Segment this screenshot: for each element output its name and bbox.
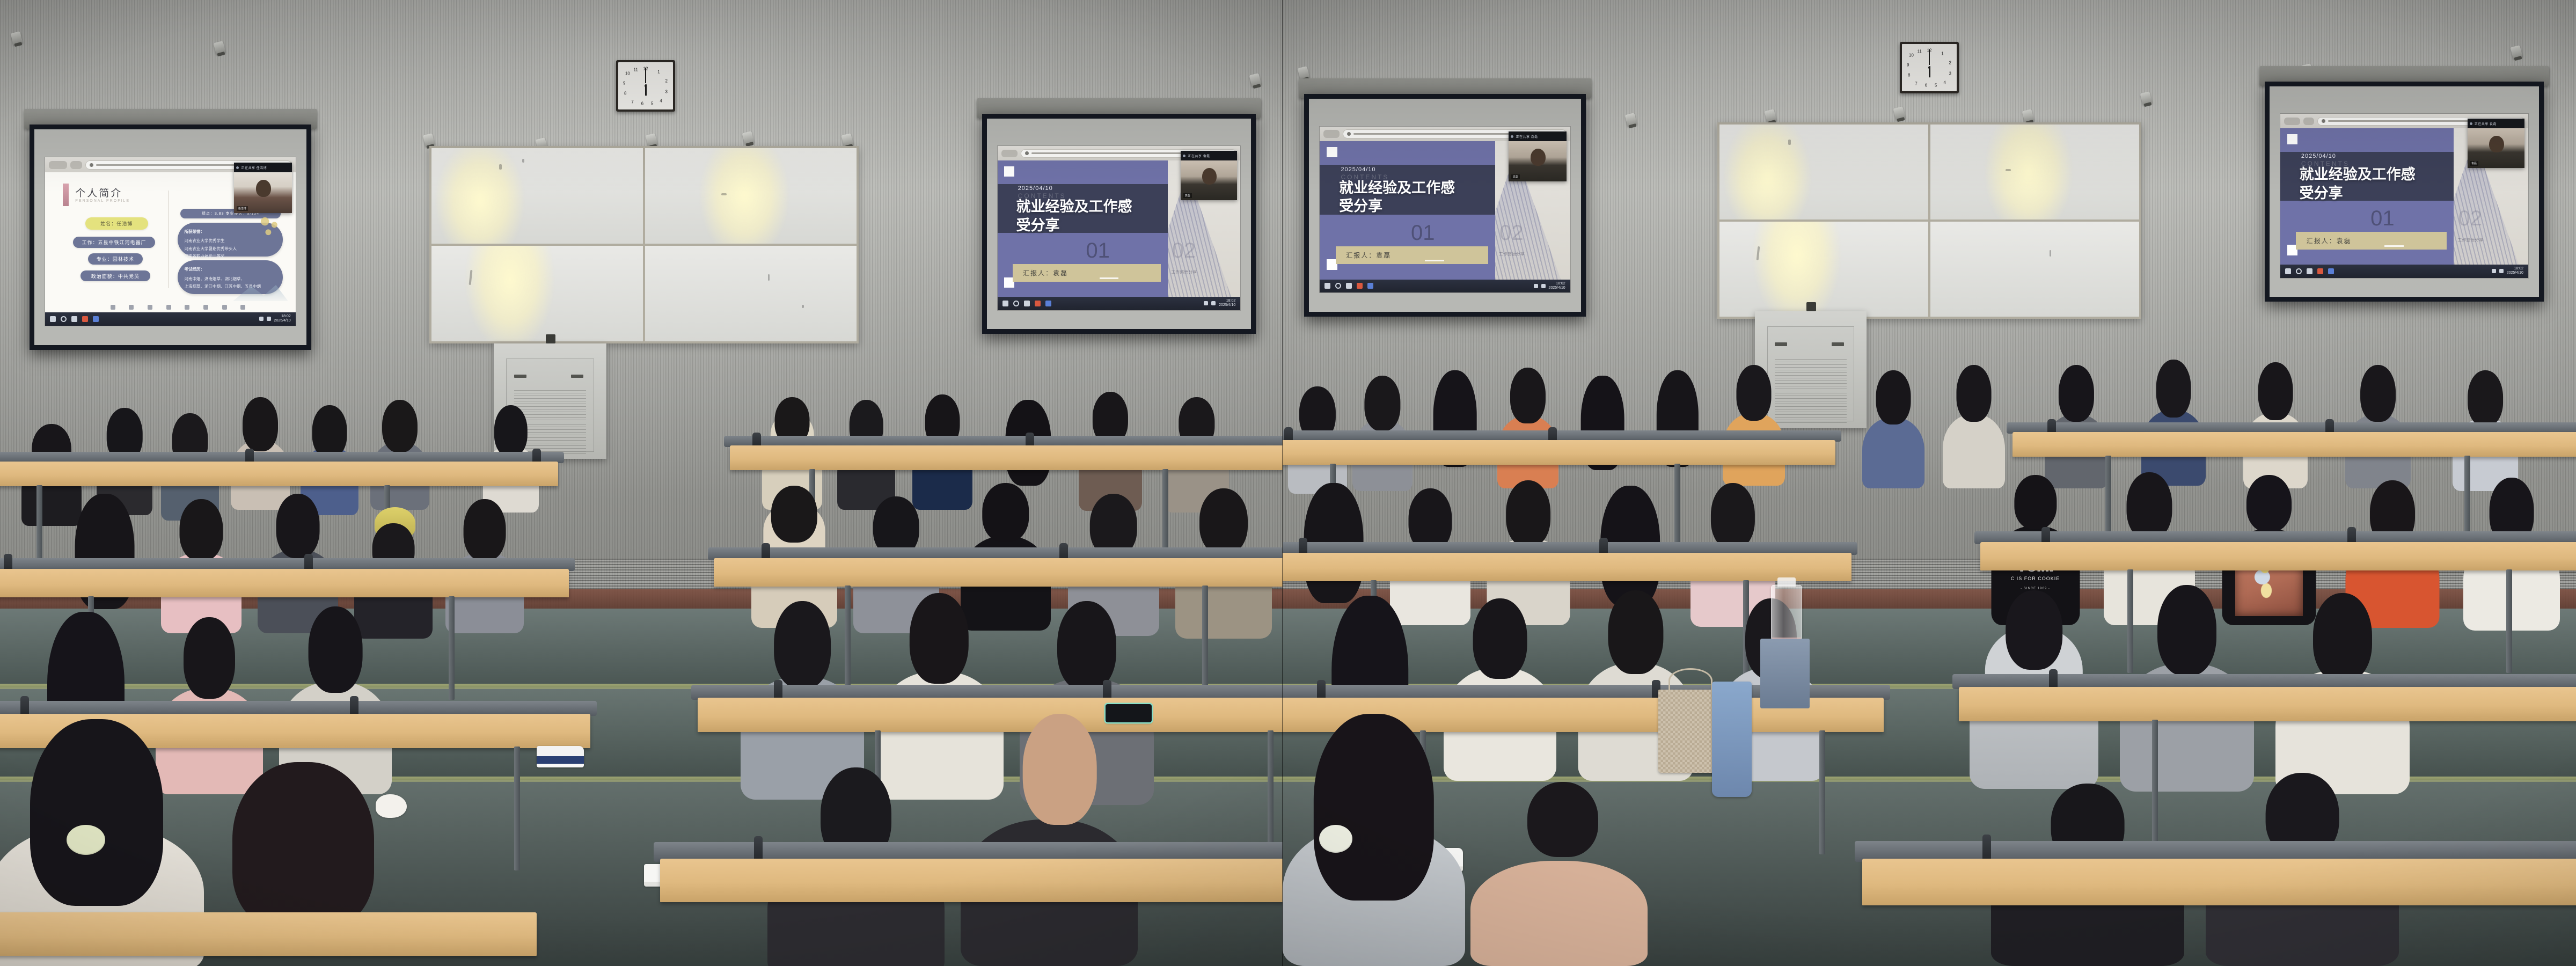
head	[1510, 368, 1546, 423]
taskview-icon[interactable]	[1346, 283, 1352, 289]
record-icon[interactable]	[203, 305, 208, 310]
whiteboard-cell	[645, 148, 857, 244]
head	[2157, 585, 2216, 676]
video-call-pip-male[interactable]: 正在共享 袁磊 袁磊	[2468, 119, 2524, 168]
whiteboard-right-panel	[1717, 122, 2141, 319]
head	[2059, 365, 2094, 422]
presenter-name: 汇报人：袁磊	[1346, 251, 1391, 260]
head	[276, 494, 320, 558]
search-icon[interactable]	[1335, 283, 1341, 289]
slide-accent-bar	[63, 184, 69, 206]
honor-item: 河南农业大学优秀学生	[184, 238, 224, 243]
pill-name: 姓名：任浩博	[85, 217, 148, 230]
screen-bezel: 2025/04/10 CONTENTS 就业经验及工作感 受分享 01 就业经验…	[1304, 94, 1586, 317]
clock-numeral: 8	[624, 91, 626, 96]
screen-surface: 2025/04/10 CONTENTS 就业经验及工作感 受分享 01 就业经验…	[1309, 99, 1581, 312]
slide-title-text: 就业经验及工作感 受分享	[1016, 197, 1152, 235]
slide-main-block: 2025/04/10 CONTENTS 就业经验及工作感 受分享 01 就业经验…	[998, 160, 1168, 297]
volume-icon[interactable]	[267, 317, 271, 321]
desk-surface	[730, 445, 1283, 470]
head	[1473, 598, 1527, 679]
slide-main-block: 2025/04/10 CONTENTS 就业经验及工作感 受分享 01 就业经验…	[1320, 141, 1495, 279]
whiteboard-cell	[1930, 125, 2139, 219]
clock-numeral: 2	[665, 79, 668, 84]
pip-participant-name: 袁磊	[1183, 193, 1192, 198]
taskbar-time: 18:02	[2514, 267, 2523, 270]
desk-surface	[1862, 859, 2576, 905]
foreground-student-right	[1283, 714, 1465, 966]
browser-tab[interactable]	[1001, 150, 1018, 157]
video-call-pip-female[interactable]: 正在共享 任浩博 任浩博	[234, 163, 291, 213]
slide-title-text: 就业经验及工作感 受分享	[1339, 179, 1479, 216]
site-icon	[2322, 119, 2325, 123]
os-taskbar[interactable]: 18:02 2025/4/10	[45, 312, 295, 326]
pill-major: 专业：园林技术	[88, 253, 143, 265]
clock-face: 12 1 2 3 4 5 6 7 8 9 10 11	[1902, 44, 1957, 91]
slide-main-block: 2025/04/10 CONTENTS 就业经验及工作感 受分享 01 就业经验…	[2280, 128, 2454, 265]
whiteboard-cell	[1930, 222, 2139, 317]
head	[1737, 365, 1772, 421]
desk-row	[2012, 432, 2576, 475]
taskbar-tray[interactable]: 18:02 2025/4/10	[1534, 282, 1565, 290]
share-indicator-icon	[2470, 122, 2472, 125]
participant-silhouette	[2489, 136, 2504, 153]
desk-row	[730, 445, 1283, 488]
head	[1608, 590, 1663, 674]
taskbar-clock[interactable]: 18:02 2025/4/10	[2507, 267, 2523, 275]
projector-screen-right: 2025/04/10 CONTENTS 就业经验及工作感 受分享 01 就业经验…	[2265, 82, 2544, 302]
desk-surface	[714, 558, 1283, 587]
clock-minute-hand	[645, 68, 646, 83]
cabinet-louvers	[1775, 393, 1846, 423]
whiteboard-cell	[645, 246, 857, 341]
search-icon[interactable]	[61, 316, 67, 322]
pip-video-feed: 袁磊	[2468, 128, 2524, 167]
taskview-icon[interactable]	[2307, 268, 2312, 274]
clock-numeral: 11	[633, 68, 638, 72]
long-hair	[30, 719, 163, 906]
pip-header: 正在共享 袁磊	[2468, 119, 2524, 128]
os-taskbar[interactable]: 18:02 2025/4/10	[2280, 265, 2528, 277]
taskbar-tray[interactable]: 18:02 2025/4/10	[2492, 267, 2523, 275]
shared-desktop-window: 2025/04/10 CONTENTS 就业经验及工作感 受分享 01 就业经验…	[998, 146, 1241, 310]
taskbar-clock[interactable]: 18:02 2025/4/10	[1219, 299, 1235, 308]
browser-tab[interactable]	[49, 161, 67, 169]
search-icon[interactable]	[1013, 301, 1019, 306]
microphone-icon	[1806, 302, 1817, 311]
slide-date: 2025/04/10	[1018, 185, 1053, 192]
clock-numeral: 5	[1935, 83, 1937, 88]
light-glow	[700, 148, 788, 244]
desk-surface	[1959, 687, 2576, 721]
clock-numeral: 7	[1915, 81, 1917, 86]
taskbar-date: 2025/4/10	[274, 319, 291, 323]
powerpoint-icon[interactable]	[1357, 283, 1363, 289]
taskbar-date: 2025/4/10	[1219, 303, 1235, 307]
section-number-02: 02	[2458, 208, 2483, 229]
site-icon	[90, 163, 93, 167]
head	[1527, 782, 1598, 857]
head	[494, 405, 528, 457]
marker-smudge	[522, 159, 524, 163]
screen-surface: 2025/04/10 CONTENTS 就业经验及工作感 受分享 01 就业经验…	[2270, 86, 2539, 297]
slide-date: 2025/04/10	[1341, 166, 1375, 173]
head	[910, 593, 969, 684]
meeting-app-icon[interactable]	[2328, 268, 2334, 274]
slide-title-line2: 受分享	[1016, 217, 1060, 233]
clock-numeral: 1	[1941, 51, 1943, 56]
taskbar-clock[interactable]: 18:02 2025/4/10	[274, 314, 291, 323]
clock-numeral: 9	[623, 80, 625, 85]
head	[2258, 362, 2293, 420]
clock-numeral: 9	[1907, 62, 1909, 67]
head	[2468, 370, 2503, 426]
head	[1199, 488, 1248, 554]
marker-smudge	[768, 274, 770, 281]
meeting-app-icon[interactable]	[1045, 301, 1051, 306]
audience-member	[1943, 365, 2005, 488]
desk-row	[1283, 553, 1851, 602]
head	[1057, 601, 1116, 691]
pip-video-feed: 任浩博	[234, 172, 291, 213]
pip-header-text: 正在共享 任浩博	[241, 165, 267, 170]
section-number-01: 01	[1411, 222, 1435, 244]
wall-clock: 12 1 2 3 4 5 6 7 8 9 10 11	[1900, 42, 1959, 93]
sneaker	[537, 746, 584, 767]
head	[2246, 475, 2292, 532]
browser-tab[interactable]	[70, 161, 82, 169]
section-caption-02: 工作感悟分享	[1171, 269, 1197, 275]
head	[1711, 483, 1755, 549]
powerpoint-icon[interactable]	[1035, 301, 1041, 306]
search-icon[interactable]	[2296, 268, 2302, 274]
clock-minute-hand	[1929, 49, 1930, 65]
light-glow	[436, 148, 524, 244]
pill-job: 工作：五县中铁江河电器厂	[73, 237, 156, 248]
head	[2156, 360, 2191, 418]
meeting-app-icon[interactable]	[93, 316, 99, 322]
slide-corner-chip	[2287, 134, 2297, 144]
whiteboard-column	[1930, 125, 2139, 317]
pip-header-text: 正在共享 袁磊	[1516, 134, 1538, 139]
section-caption-02: 工作感悟分享	[2457, 237, 2483, 243]
desk-leg	[1202, 586, 1208, 689]
clock-numeral: 3	[665, 89, 668, 94]
torso	[1470, 861, 1648, 966]
light-glow	[1985, 125, 2072, 219]
desk-leg	[449, 596, 455, 700]
volume-icon[interactable]	[1541, 284, 1546, 288]
slide-date: 2025/04/10	[2301, 153, 2336, 159]
video-call-pip-male[interactable]: 正在共享 袁磊 袁磊	[1509, 131, 1566, 181]
desk-surface	[660, 859, 1283, 902]
cabinet-vent-slot	[514, 375, 526, 378]
whiteboard-left-panel	[429, 146, 859, 343]
pip-header-text: 正在共享 袁磊	[1188, 153, 1210, 158]
desk-leg	[1268, 730, 1274, 854]
site-icon	[1025, 151, 1029, 155]
section-number-01: 01	[2370, 208, 2395, 229]
desk-surface	[0, 569, 569, 597]
slide-title-line2: 受分享	[2300, 185, 2343, 201]
head	[774, 601, 831, 689]
hair-scrunchie	[1319, 825, 1352, 853]
head	[1957, 365, 1992, 422]
head	[2006, 590, 2062, 670]
whiteboard-cell	[1719, 222, 1928, 317]
slide-title-line2: 受分享	[1339, 198, 1382, 214]
desk-leg	[514, 747, 520, 870]
section-number-01: 01	[1086, 240, 1110, 261]
desk-row	[1862, 859, 2576, 939]
clock-face: 12 1 2 3 4 5 6 7 8 9 10 11	[618, 62, 673, 109]
clock-center-pin	[645, 85, 647, 87]
honor-item: 河南农业大学暑期优秀带头人	[184, 246, 237, 251]
taskbar-clock[interactable]: 18:02 2025/4/10	[1549, 282, 1565, 290]
os-taskbar[interactable]: 18:02 2025/4/10	[998, 297, 1241, 310]
desk-row	[0, 912, 537, 966]
cabinet-vent-slot	[1775, 342, 1787, 346]
head	[1876, 370, 1911, 425]
shared-desktop-window: 2025/04/10 CONTENTS 就业经验及工作感 受分享 01 就业经验…	[2280, 114, 2528, 278]
microphone-icon	[546, 334, 556, 343]
whiteboard-cell	[431, 148, 643, 244]
projector-screen-right: 2025/04/10 CONTENTS 就业经验及工作感 受分享 01 就业经验…	[982, 114, 1256, 334]
site-icon	[1347, 132, 1351, 136]
projector-screen-left: 个人简介 PERSONAL PROFILE 姓名：任浩博 工作：五县中铁江河电器…	[30, 125, 311, 350]
meeting-toolbar[interactable]	[111, 291, 246, 310]
network-icon[interactable]	[2492, 269, 2496, 273]
clock-numeral: 4	[660, 99, 662, 104]
exams-title: 考试经历：	[184, 266, 276, 273]
slide-underline	[1425, 260, 1444, 261]
head	[771, 486, 817, 543]
whiteboard-column	[431, 148, 643, 341]
slide-corner-chip	[1004, 166, 1014, 177]
denim-jacket	[1760, 639, 1810, 708]
share-indicator-icon	[236, 166, 239, 169]
browser-tab[interactable]	[2284, 118, 2300, 125]
slide-underline	[1100, 277, 1118, 279]
share-indicator-icon	[1511, 135, 1513, 138]
participants-icon[interactable]	[166, 305, 171, 310]
left-frame: 12 1 2 3 4 5 6 7 8 9 10 11	[0, 0, 1283, 966]
head	[184, 617, 235, 699]
head	[1506, 480, 1551, 547]
head	[2313, 593, 2372, 682]
browser-tab[interactable]	[1323, 130, 1340, 137]
volume-icon[interactable]	[1211, 301, 1216, 305]
hair-scrunchie	[67, 825, 105, 855]
desk-row	[1283, 440, 1835, 483]
pip-header: 正在共享 任浩博	[234, 163, 291, 173]
network-icon[interactable]	[259, 317, 264, 321]
taskview-icon[interactable]	[1024, 301, 1030, 306]
desk-row	[1959, 687, 2576, 746]
network-icon[interactable]	[1204, 301, 1208, 305]
molecule-decor-icon	[258, 215, 281, 237]
desk-surface	[1283, 553, 1851, 581]
cabinet-vent-slot	[571, 375, 583, 378]
presenter-bar: 汇报人：袁磊	[1013, 264, 1161, 282]
head	[1364, 376, 1400, 431]
browser-tab[interactable]	[2303, 118, 2314, 125]
video-call-pip-male[interactable]: 正在共享 袁磊 袁磊	[1181, 151, 1236, 200]
wall-clock: 12 1 2 3 4 5 6 7 8 9 10 11	[616, 60, 675, 112]
pip-participant-name: 任浩博	[237, 206, 248, 211]
clock-numeral: 4	[1943, 80, 1945, 85]
head	[309, 606, 363, 693]
share-indicator-icon	[1183, 155, 1185, 157]
slide-title-line1: 就业经验及工作感	[1339, 180, 1455, 196]
slide-corner-chip	[1327, 147, 1337, 158]
mic-icon[interactable]	[111, 305, 115, 310]
marker-smudge	[2006, 169, 2011, 171]
slide-divider	[168, 191, 169, 288]
marker-smudge	[1788, 140, 1791, 145]
hanging-jacket	[1712, 682, 1752, 797]
section-caption-02: 工作感悟分享	[1499, 251, 1525, 257]
marker-smudge	[499, 164, 502, 170]
os-taskbar[interactable]: 18:02 2025/4/10	[1320, 280, 1570, 293]
desk-leg	[1162, 469, 1168, 559]
light-glow	[1753, 222, 1840, 317]
chat-icon[interactable]	[185, 305, 189, 310]
start-icon[interactable]	[50, 316, 56, 322]
clock-numeral: 8	[1908, 73, 1910, 78]
cabinet-louvers	[1775, 358, 1846, 389]
pip-header: 正在共享 袁磊	[1509, 131, 1566, 142]
participant-silhouette	[1531, 149, 1546, 166]
settings-icon[interactable]	[222, 305, 227, 310]
powerpoint-icon[interactable]	[2317, 268, 2323, 274]
clock-center-pin	[1928, 67, 1930, 69]
desk-row	[1980, 542, 2576, 591]
taskbar-time: 18:02	[1226, 299, 1236, 303]
taskbar-time: 18:02	[281, 314, 291, 318]
whiteboard-cell	[1719, 125, 1928, 219]
more-icon[interactable]	[240, 305, 245, 310]
head	[180, 499, 223, 561]
projector-screen-left: 2025/04/10 CONTENTS 就业经验及工作感 受分享 01 就业经验…	[1304, 94, 1586, 317]
share-icon[interactable]	[148, 305, 152, 310]
clock-numeral: 10	[1909, 53, 1914, 58]
pip-participant-name: 袁磊	[2470, 161, 2478, 166]
slide-title-text: 就业经验及工作感 受分享	[2300, 165, 2439, 202]
audience-member	[1862, 370, 1924, 488]
desk-surface	[0, 462, 558, 486]
clock-numeral: 7	[631, 99, 633, 104]
shared-desktop-window: 2025/04/10 CONTENTS 就业经验及工作感 受分享 01 就业经验…	[1320, 127, 1570, 293]
desk-row	[660, 859, 1283, 934]
camera-icon[interactable]	[129, 305, 134, 310]
exams-block: 考试经历： 河南中烟、湖南烟草、湖北烟草、 上海烟草、浙江中烟、江苏中烟、五县中…	[178, 260, 283, 294]
start-icon[interactable]	[1324, 283, 1330, 289]
desk-leg	[2506, 569, 2512, 673]
clock-numeral: 10	[625, 71, 630, 76]
presenter-name: 汇报人：袁磊	[1023, 268, 1068, 277]
pip-video-feed: 袁磊	[1509, 141, 1566, 181]
screen-bezel: 个人简介 PERSONAL PROFILE 姓名：任浩博 工作：五县中铁江河电器…	[30, 125, 311, 350]
screen-surface: 2025/04/10 CONTENTS 就业经验及工作感 受分享 01 就业经验…	[987, 119, 1251, 329]
taskview-icon[interactable]	[71, 316, 77, 322]
marker-smudge	[2050, 250, 2051, 257]
meeting-app-icon[interactable]	[1367, 283, 1373, 289]
section-number-02: 02	[1499, 222, 1524, 244]
long-hair	[232, 762, 374, 930]
right-frame: 12 1 2 3 4 5 6 7 8 9 10 11	[1283, 0, 2576, 966]
network-icon[interactable]	[1534, 284, 1538, 288]
presenter-name: 汇报人：袁磊	[2307, 236, 2352, 245]
slide-title-line1: 就业经验及工作感	[1016, 199, 1132, 215]
head	[2014, 475, 2057, 529]
photo-pair-stage: 12 1 2 3 4 5 6 7 8 9 10 11	[0, 0, 2576, 966]
pill-political-status: 政治面貌：中共党员	[80, 270, 151, 282]
head	[464, 499, 506, 561]
whiteboard-cell	[431, 246, 643, 341]
pip-header-text: 正在共享 袁磊	[2475, 121, 2497, 126]
marker-smudge	[802, 305, 804, 308]
whiteboard-column	[1719, 125, 1928, 317]
start-icon[interactable]	[1002, 301, 1008, 306]
head	[2360, 365, 2396, 422]
marker-smudge	[721, 193, 727, 195]
participant-silhouette	[256, 180, 271, 197]
shared-desktop-window: 个人简介 PERSONAL PROFILE 姓名：任浩博 工作：五县中铁江河电器…	[45, 157, 295, 326]
slide-heading: 个人简介	[75, 185, 122, 200]
head	[312, 405, 347, 458]
clock-numeral: 6	[1925, 83, 1927, 88]
start-icon[interactable]	[2285, 268, 2291, 274]
cabinet-vent-slot	[1832, 342, 1844, 346]
head	[2127, 472, 2172, 539]
pip-header: 正在共享 袁磊	[1181, 151, 1236, 160]
taskbar-date: 2025/4/10	[2507, 271, 2523, 275]
audience-member	[1470, 778, 1648, 966]
clock-numeral: 2	[1949, 61, 1951, 65]
head	[243, 397, 278, 451]
head	[982, 483, 1029, 542]
clock-numeral: 6	[641, 101, 643, 106]
screen-bezel: 2025/04/10 CONTENTS 就业经验及工作感 受分享 01 就业经验…	[2265, 82, 2544, 302]
slide-underline	[2384, 245, 2404, 247]
light-glow	[1724, 125, 1811, 219]
taskbar-date: 2025/4/10	[1549, 286, 1565, 290]
taskbar-tray[interactable]: 18:02 2025/4/10	[1204, 299, 1235, 308]
presenter-bar: 汇报人：袁磊	[2296, 232, 2447, 250]
exam-item: 河南中烟、湖南烟草、湖北烟草、	[184, 276, 245, 281]
clock-numeral: 5	[651, 101, 653, 106]
desk-surface	[1980, 542, 2576, 570]
clock-numeral: 3	[1949, 71, 1951, 76]
long-hair	[1314, 714, 1434, 901]
clock-numeral: 1	[657, 69, 660, 74]
desk-surface	[1283, 440, 1835, 465]
slide-subheading: PERSONAL PROFILE	[75, 199, 130, 203]
torso	[1862, 418, 1924, 488]
taskbar-tray[interactable]: 18:02 2025/4/10	[259, 314, 291, 323]
clock-numeral: 11	[1917, 49, 1921, 54]
volume-icon[interactable]	[2499, 269, 2504, 273]
honor-item: 河南省职业技能二等奖	[184, 254, 224, 259]
head	[382, 400, 418, 452]
light-glow	[465, 246, 554, 341]
slide-title-line1: 就业经验及工作感	[2300, 166, 2416, 182]
face	[1023, 714, 1097, 825]
powerpoint-icon[interactable]	[82, 316, 88, 322]
pip-video-feed: 袁磊	[1181, 160, 1236, 200]
participant-silhouette	[1202, 168, 1217, 185]
